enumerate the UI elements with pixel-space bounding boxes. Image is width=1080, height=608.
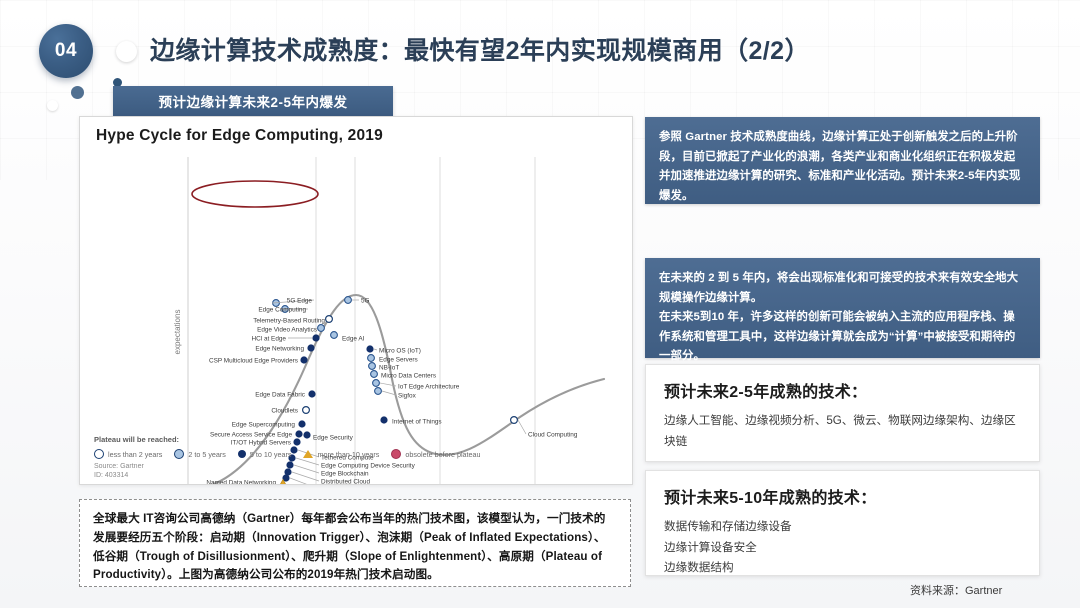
hype-point: Edge AI [331,332,365,343]
hype-point-label: Edge Servers [379,356,418,363]
tech-card-5-10-item: 边缘计算设备安全 [664,538,1021,559]
page-title: 边缘计算技术成熟度：最快有望2年内实现规模商用（2/2） [150,31,810,67]
tech-card-5-10-years: 预计未来5-10年成熟的技术： 数据传输和存储边缘设备边缘计算设备安全边缘数据结… [645,470,1040,576]
hype-point: Edge Networking [255,344,314,352]
hype-point-label: Edge Computing [258,306,306,313]
hype-point-label: Edge Blockchain [321,470,369,477]
insight-box-gartner-curve: 参照 Gartner 技术成熟度曲线，边缘计算正处于创新触发之后的上升阶段，目前… [645,117,1040,204]
hype-point: IoT Edge Architecture [373,380,460,391]
slide-number-text: 04 [55,40,77,62]
tech-card-2-5-body: 边缘人工智能、边缘视频分析、5G、微云、物联网边缘架构、边缘区块链 [664,411,1021,452]
hype-point-label: Distributed Cloud [321,478,370,484]
hype-point-label: Cloudlets [271,407,298,414]
decor-dot-white-small [47,100,58,111]
legend-item: more than 10 years [303,450,379,459]
hype-point-label: Named Data Networking [206,479,276,484]
svg-text:expectations: expectations [173,310,182,355]
hype-point-label: 5G [361,297,370,304]
hype-cycle-chart-card: Hype Cycle for Edge Computing, 2019 expe… [79,116,633,485]
chart-legend: Plateau will be reached: less than 2 yea… [94,435,618,459]
filled-circle-icon [238,450,246,458]
legend-item-label: more than 10 years [317,450,379,459]
legend-item: 5 to 10 years [238,450,292,459]
hype-point: Internet of Things [380,416,441,425]
hype-point-label: HCl at Edge [252,335,287,342]
half-circle-icon [174,449,184,459]
hype-point: 5G Edge [272,297,314,306]
insight-box-b-line2: 在未来5到10 年，许多这样的创新可能会被纳入主流的应用程序栈、操作系统和管理工… [659,308,1026,367]
hype-point-label: Edge AI [342,335,365,342]
legend-item-label: 5 to 10 years [250,450,292,459]
tech-card-2-5-years: 预计未来2-5年成熟的技术： 边缘人工智能、边缘视频分析、5G、微云、物联网边缘… [645,364,1040,462]
explanatory-note-box: 全球最大 IT咨询公司高德纳（Gartner）每年都会公布当年的热门技术图，该模… [79,499,631,587]
hype-point-label: Micro Data Centers [381,372,436,379]
hype-point-label: Micro OS (IoT) [379,347,421,354]
crossed-circle-icon [391,449,401,459]
chart-source-name: Source: Gartner [94,462,144,471]
hype-point-label: Edge Video Analytics [257,326,317,333]
hype-point-label: Internet of Things [392,418,442,425]
slide-number-badge: 04 [39,24,93,78]
legend-item-label: 2 to 5 years [188,450,226,459]
legend-item: less than 2 years [94,449,162,459]
decor-dot-blue-small [71,86,84,99]
hype-point: NB-IoT [369,363,400,372]
hype-cycle-plot: expectations Innovation TriggerPeakof In… [80,117,632,484]
hype-point-label: IoT Edge Architecture [398,383,460,390]
hype-point-label: CSP Multicloud Edge Providers [209,357,298,364]
legend-item: obsolete before plateau [391,449,480,459]
hype-point: Edge Supercomputing [232,420,306,428]
insight-box-forecast: 在未来的 2 到 5 年内，将会出现标准化和可接受的技术来有效安全地大规模操作边… [645,258,1040,358]
tech-card-5-10-list: 数据传输和存储边缘设备边缘计算设备安全边缘数据结构 [664,517,1021,579]
hype-point-label: 5G Edge [287,297,313,304]
tech-card-2-5-heading: 预计未来2-5年成熟的技术： [664,378,1021,402]
hype-point: Cloudlets [271,407,309,415]
source-attribution: 资料来源：Gartner [910,582,1002,598]
hype-point: CSP Multicloud Edge Providers [209,356,308,364]
tech-card-5-10-heading: 预计未来5-10年成熟的技术： [664,484,1021,508]
hype-point: Telemetry-Based Routing [253,316,332,325]
triangle-icon [303,450,313,458]
explanatory-note-text: 全球最大 IT咨询公司高德纳（Gartner）每年都会公布当年的热门技术图，该模… [93,510,617,585]
hype-point: Edge Servers [368,355,418,364]
hype-point-label: Edge Data Fabric [255,391,306,398]
hype-point-label: Edge Supercomputing [232,421,296,428]
hype-point: Micro OS (IoT) [366,345,421,354]
hype-point: Edge Data Fabric [255,390,315,398]
hype-point: Edge Computing [258,306,308,314]
insight-box-a-text: 参照 Gartner 技术成熟度曲线，边缘计算正处于创新触发之后的上升阶段，目前… [659,128,1026,206]
hype-point: 5G [345,297,370,305]
slide-root: 04 边缘计算技术成熟度：最快有望2年内实现规模商用（2/2） 预计边缘计算未来… [0,0,1080,608]
open-circle-icon [94,449,104,459]
legend-items: less than 2 years2 to 5 years5 to 10 yea… [94,449,618,459]
legend-item-label: less than 2 years [108,450,162,459]
legend-item-label: obsolete before plateau [405,450,480,459]
decor-dot-white-large [116,41,137,62]
hype-point: Named Data Networking [206,479,287,484]
chart-source: Source: Gartner ID: 403314 [94,462,144,481]
legend-item: 2 to 5 years [174,449,226,459]
hype-point-label: Telemetry-Based Routing [253,317,325,324]
chart-source-id: ID: 403314 [94,471,144,480]
tech-card-5-10-item: 边缘数据结构 [664,558,1021,579]
hype-point-label: Sigfox [398,392,417,399]
hype-point-label: Edge Networking [255,345,304,352]
section-ribbon-label: 预计边缘计算未来2-5年内爆发 [113,86,393,116]
hype-point-label: NB-IoT [379,364,399,371]
hype-point: Edge Video Analytics [257,325,324,334]
legend-title: Plateau will be reached: [94,435,618,444]
insight-box-b-line1: 在未来的 2 到 5 年内，将会出现标准化和可接受的技术来有效安全地大规模操作边… [659,269,1026,308]
hype-point-label: Edge Computing Device Security [321,462,416,469]
hype-point: Micro Data Centers [371,371,436,380]
tech-card-5-10-item: 数据传输和存储边缘设备 [664,517,1021,538]
hype-point: HCl at Edge [252,334,320,342]
